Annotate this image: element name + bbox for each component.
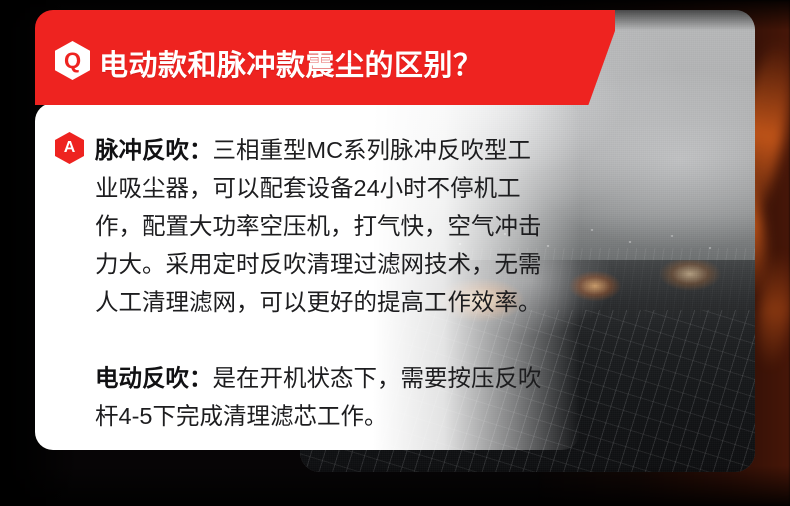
answer-paragraph-2: 电动反吹：是在开机状态下，需要按压反吹杆4-5下完成清理滤芯工作。 (95, 359, 545, 435)
question-badge-letter: Q (55, 41, 90, 80)
hexagon-q-icon: Q (55, 41, 90, 80)
answer-text-1: 三相重型MC系列脉冲反吹型工业吸尘器，可以配套设备24小时不停机工作，配置大功率… (95, 137, 542, 315)
answer-badge-letter: A (55, 132, 84, 164)
answer-text-block: 脉冲反吹：三相重型MC系列脉冲反吹型工业吸尘器，可以配套设备24小时不停机工作，… (95, 131, 545, 435)
hexagon-a-icon: A (55, 132, 84, 164)
page-title: 电动款和脉冲款震尘的区别？ (99, 42, 483, 84)
faq-card-page: Q 电动款和脉冲款震尘的区别？ A 脉冲反吹：三相重型MC系列脉冲反吹型工业吸尘… (0, 0, 790, 506)
answer-lead-1: 脉冲反吹： (95, 137, 213, 163)
answer-lead-2: 电动反吹： (95, 365, 213, 391)
answer-paragraph-1: 脉冲反吹：三相重型MC系列脉冲反吹型工业吸尘器，可以配套设备24小时不停机工作，… (95, 131, 545, 321)
